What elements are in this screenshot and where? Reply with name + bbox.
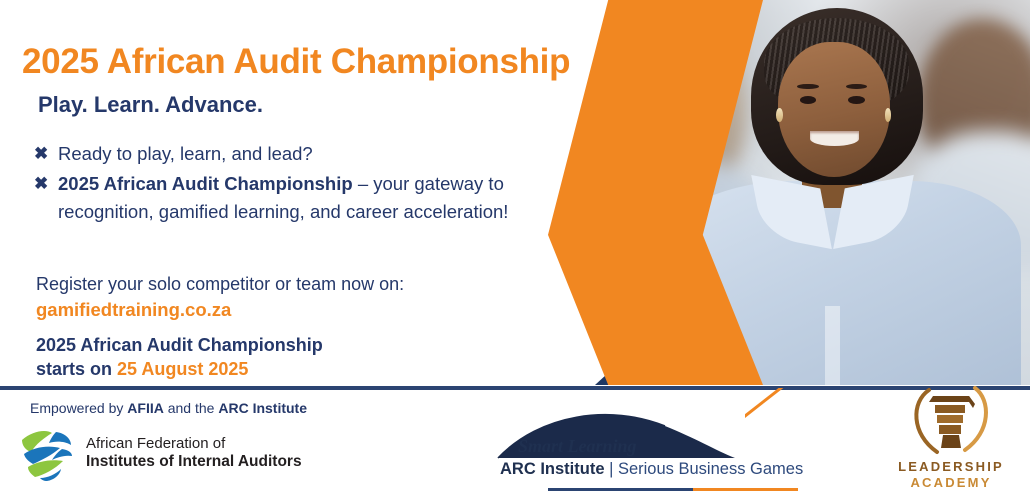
start-date-line: starts on 25 August 2025 (36, 357, 323, 381)
start-date-block: 2025 African Audit Championship starts o… (36, 333, 323, 381)
registration-block: Register your solo competitor or team no… (36, 272, 404, 322)
afiia-name-line2: Institutes of Internal Auditors (86, 453, 302, 471)
afiia-name-line1: African Federation of (86, 435, 302, 453)
leadership-academy-line2: ACADEMY (876, 475, 1026, 490)
eyebrow-right (846, 84, 867, 89)
empowered-org-arc: ARC Institute (218, 400, 307, 416)
bullet-list: ✖ Ready to play, learn, and lead? ✖ 2025… (34, 140, 554, 228)
pillar-graduation-cap-icon (903, 382, 999, 458)
arc-tagline: Smart Learning (518, 436, 637, 457)
arc-separator: | (605, 460, 618, 478)
cross-bullet-icon: ✖ (34, 140, 58, 168)
list-item-label: 2025 African Audit Championship – your g… (58, 170, 554, 226)
arc-institute-logo: Smart Learning ARC Institute | Serious B… (490, 408, 760, 478)
afiia-logo: African Federation of Institutes of Inte… (16, 424, 302, 482)
registration-label: Register your solo competitor or team no… (36, 272, 404, 297)
start-date-event: 2025 African Audit Championship (36, 333, 323, 357)
foreground-person-face (778, 42, 890, 177)
afiia-logo-text: African Federation of Institutes of Inte… (86, 435, 302, 471)
earring-left (776, 108, 783, 121)
eyebrow-left (797, 84, 818, 89)
shirt-placket (825, 306, 840, 385)
empowered-org-afiia: AFIIA (127, 400, 164, 416)
tagline: Play. Learn. Advance. (38, 92, 263, 118)
start-date-prefix: starts on (36, 359, 117, 379)
eye-left (800, 96, 817, 104)
globe-icon (16, 424, 78, 482)
cross-bullet-icon: ✖ (34, 170, 58, 198)
leadership-academy-logo: LEADERSHIP ACADEMY for Guardians of Gove… (876, 382, 1026, 491)
arc-institute-name: ARC Institute (500, 460, 605, 478)
promotional-banner: 2025 African Audit Championship Play. Le… (0, 0, 1030, 491)
leadership-academy-line1: LEADERSHIP (876, 459, 1026, 474)
page-title: 2025 African Audit Championship (22, 42, 570, 82)
empowered-prefix: Empowered by (30, 400, 127, 416)
empowered-middle: and the (164, 400, 219, 416)
list-item-label: Ready to play, learn, and lead? (58, 140, 313, 168)
smile (810, 131, 859, 146)
list-item: ✖ Ready to play, learn, and lead? (34, 140, 554, 168)
registration-url[interactable]: gamifiedtraining.co.za (36, 297, 404, 322)
start-date-value: 25 August 2025 (117, 359, 248, 379)
list-item: ✖ 2025 African Audit Championship – your… (34, 170, 554, 226)
eye-right (848, 96, 865, 104)
list-item-emphasis: 2025 African Audit Championship (58, 173, 353, 194)
empowered-by-text: Empowered by AFIIA and the ARC Institute (30, 400, 307, 416)
